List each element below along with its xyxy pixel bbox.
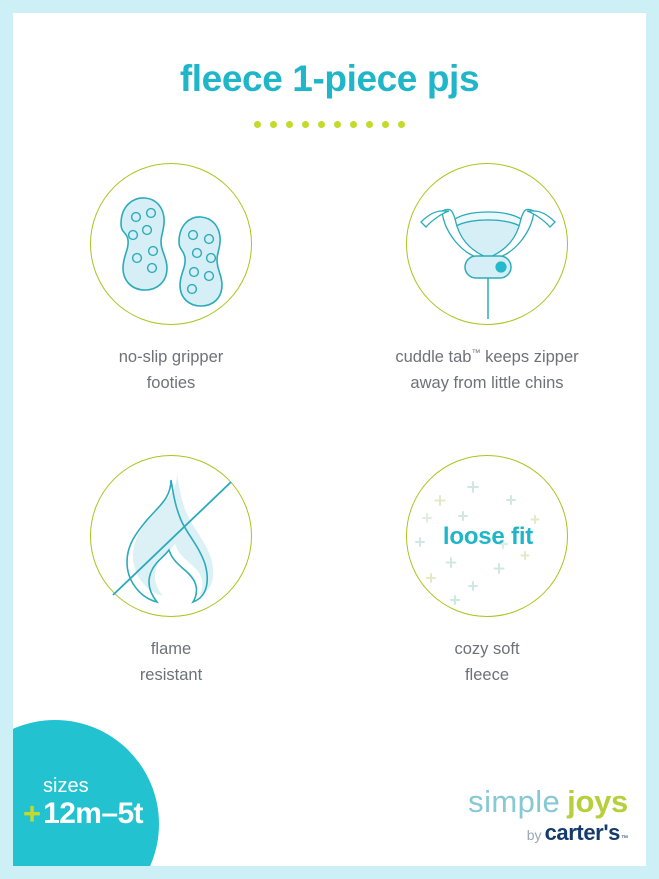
feature-row-1: no-slip gripper footies (13, 163, 646, 397)
loose-fit-label: loose fit (407, 456, 569, 618)
caption-line-2: resistant (140, 666, 202, 684)
caption-line-2: fleece (465, 666, 509, 684)
brand-logo: simple joys by carter's™ (438, 786, 628, 844)
trademark-mark: ™ (472, 348, 481, 358)
sizes-badge: sizes + 12m–5t (13, 720, 159, 866)
plus-icon: + (23, 798, 41, 829)
caption-line-2: away from little chins (410, 374, 563, 392)
feature-cuddle-tab: cuddle tab™ keeps zipper away from littl… (329, 163, 645, 397)
logo-secondary-row: by carter's™ (438, 822, 628, 844)
feature-caption: flame resistant (140, 636, 202, 689)
feature-caption: cuddle tab™ keeps zipper away from littl… (395, 344, 578, 397)
feature-gripper-footies: no-slip gripper footies (13, 163, 329, 397)
feature-caption: cozy soft fleece (454, 636, 519, 689)
caption-line-1: cuddle tab (395, 348, 471, 366)
title-dot-divider (13, 121, 646, 128)
no-flame-icon (90, 455, 252, 617)
logo-primary-row: simple joys (438, 786, 628, 817)
sizes-badge-content: sizes + 12m–5t (23, 776, 153, 829)
logo-trademark: ™ (621, 835, 628, 842)
caption-line-1: no-slip gripper (119, 348, 224, 366)
caption-line-1-rest: keeps zipper (481, 348, 579, 366)
poster-canvas: fleece 1-piece pjs (13, 13, 646, 866)
feature-flame-resistant: flame resistant (13, 455, 329, 689)
logo-word-carters: carter's (545, 822, 620, 844)
logo-word-joys: joys (567, 786, 628, 817)
logo-word-by: by (527, 828, 542, 842)
feature-caption: no-slip gripper footies (119, 344, 224, 397)
page-title: fleece 1-piece pjs (13, 58, 646, 100)
feature-grid: no-slip gripper footies (13, 163, 646, 689)
cuddle-tab-collar-icon (406, 163, 568, 325)
sizes-range-row: + 12m–5t (23, 798, 153, 829)
feature-cozy-soft-fleece: loose fit cozy soft fleece (329, 455, 645, 689)
loose-fit-sparkle-icon: loose fit (406, 455, 568, 617)
logo-word-simple: simple (468, 786, 560, 817)
poster-frame: fleece 1-piece pjs (0, 0, 659, 879)
feature-row-2: flame resistant (13, 455, 646, 689)
sizes-range: 12m–5t (43, 799, 143, 829)
sizes-label: sizes (43, 776, 153, 796)
caption-line-1: cozy soft (454, 640, 519, 658)
caption-line-1: flame (151, 640, 191, 658)
gripper-footies-icon (90, 163, 252, 325)
caption-line-2: footies (147, 374, 196, 392)
